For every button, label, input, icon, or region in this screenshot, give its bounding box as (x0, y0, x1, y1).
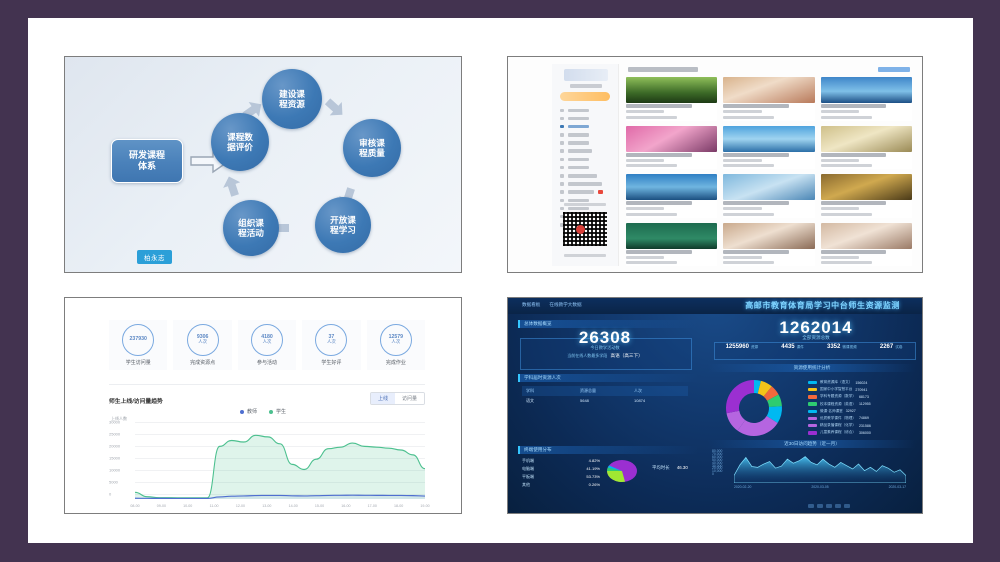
course-teacher (821, 159, 859, 162)
stat-card-row: 237930学生访问量9306人次完成资源点4180人次参与活动37人次学生好评… (109, 320, 425, 370)
pager-dot[interactable] (835, 504, 841, 508)
y-axis-tick: 0 (109, 492, 111, 497)
bullet-icon (560, 182, 564, 186)
course-title (821, 104, 887, 108)
y-axis-tick: 15000 (109, 456, 120, 461)
terminal-label: 平板端 (522, 474, 534, 480)
visit-area-chart (734, 450, 906, 483)
pager-dot[interactable] (808, 504, 814, 508)
stat-ring: 237930 (122, 324, 154, 356)
legend-swatch (808, 424, 817, 428)
stat-card-0: 237930学生访问量 (109, 320, 167, 370)
kpi-caption-resources: 全部资源总数 (716, 335, 916, 341)
metric-value: 3352 (827, 344, 840, 350)
x-axis-tick: 19-00 (420, 504, 429, 508)
bullet-icon (560, 207, 564, 211)
sidebar-item-8[interactable] (558, 172, 614, 180)
kpi-detail-value: 高语（高三下） (611, 353, 643, 358)
pager-dot[interactable] (817, 504, 823, 508)
course-card-grid (626, 77, 912, 266)
stat-ring: 4180人次 (251, 324, 283, 356)
pager-dot[interactable] (826, 504, 832, 508)
sidebar-item-7[interactable] (558, 163, 614, 171)
stat-card-3: 37人次学生好评 (302, 320, 360, 370)
sidebar-item-label (568, 133, 589, 137)
table-header-row: 学科 资源总量 人次 (522, 386, 688, 396)
x-axis-tick: 12-00 (236, 504, 245, 508)
pager-dot[interactable] (844, 504, 850, 508)
stat-ring: 9306人次 (187, 324, 219, 356)
course-card[interactable] (723, 223, 814, 267)
metric-label: 微课视频 (842, 345, 856, 350)
legend-value: 270941 (855, 388, 867, 392)
stat-label: 完成作业 (386, 359, 406, 366)
bullet-icon (560, 190, 564, 194)
course-card[interactable] (821, 77, 912, 121)
toggle-option-online[interactable]: 上线 (371, 393, 395, 404)
course-thumbnail (626, 126, 717, 152)
kpi-detail-activities: 当前在线人数最多学段 高语（高三下） (520, 353, 690, 359)
sidebar-item-9[interactable] (558, 180, 614, 188)
course-teacher (626, 207, 664, 210)
donut-legend-item-7: 儿童素养课程（综合）306000 (808, 430, 871, 435)
cycle-node-organize: 组织课 程活动 (223, 200, 279, 256)
terminal-item-1: 电脑端41.19% (522, 466, 600, 472)
trend-area-chart (135, 422, 425, 499)
course-thumbnail (626, 174, 717, 200)
sidebar-item-1[interactable] (558, 114, 614, 122)
sidebar-footer-link[interactable] (564, 203, 606, 206)
stat-card-2: 4180人次参与活动 (238, 320, 296, 370)
course-views (723, 213, 774, 216)
table-row: 语文 5648 10874 (522, 396, 688, 406)
table-cell-subject: 语文 (522, 398, 580, 404)
course-teacher (626, 159, 664, 162)
x-axis-tick: 13-00 (262, 504, 271, 508)
y-axis-tick: 10000 (109, 468, 120, 473)
donut-legend-item-6: 精品录播课程（化学）231586 (808, 423, 871, 428)
course-title (626, 153, 692, 157)
sidebar-item-label (568, 182, 602, 186)
new-badge-icon (598, 190, 603, 194)
bullet-icon (560, 174, 564, 178)
course-teacher (626, 256, 664, 259)
legend-item-学生[interactable]: 学生 (269, 408, 286, 415)
course-card[interactable] (821, 223, 912, 267)
course-views (723, 116, 774, 119)
cycle-node-build: 建设课 程资源 (262, 69, 322, 129)
stat-label: 完成资源点 (190, 359, 215, 366)
stat-card-1: 9306人次完成资源点 (173, 320, 231, 370)
stat-value: 237930 (130, 337, 147, 342)
sidebar-item-3[interactable] (558, 131, 614, 139)
terminal-value: 53.73% (586, 474, 600, 480)
terminal-item-2: 平板端53.73% (522, 474, 600, 480)
course-title (626, 201, 692, 205)
donut-legend-item-2: 学科专题资源（数学）68173 (808, 394, 871, 399)
sidebar-item-2[interactable] (558, 122, 614, 130)
legend-label: 儿童素养课程（综合） (820, 430, 856, 435)
cycle-node-evaluate: 课程数 据评价 (211, 113, 269, 171)
legend-label: 学科专题资源（数学） (820, 394, 856, 399)
y-axis-tick: 25000 (109, 432, 120, 437)
course-views (821, 116, 872, 119)
legend-value: 74869 (859, 416, 869, 420)
area-x-tick: 2020-03-17 (889, 485, 906, 489)
panel-monitoring-dashboard: 数据看板 在线教学大数据 高邮市教育体育局学习中台师生资源监测 总体数据概览 2… (507, 297, 923, 514)
course-teacher (723, 159, 761, 162)
table-header-subject: 学科 (522, 388, 580, 394)
course-card[interactable] (821, 174, 912, 218)
cycle-arrow-build-to-review-icon (324, 97, 346, 119)
course-teacher (821, 110, 859, 113)
metric-label: 资源 (751, 345, 758, 350)
terminal-label: 其他 (522, 482, 530, 488)
sidebar-item-label (568, 207, 589, 211)
dashboard-pager[interactable] (808, 504, 850, 508)
nav-item-board[interactable]: 数据看板 (522, 302, 540, 308)
stat-card-4: 12579人次完成作业 (367, 320, 425, 370)
metric-value: 2267 (880, 344, 893, 350)
breadcrumb (628, 67, 698, 72)
legend-swatch (808, 395, 817, 399)
legend-swatch (808, 402, 817, 406)
sidebar-item-0[interactable] (558, 106, 614, 114)
bullet-icon (560, 133, 564, 137)
y-axis-tick: 5000 (109, 480, 118, 485)
dashboard-title: 高邮市教育体育局学习中台师生资源监测 (745, 300, 900, 311)
resource-metric-2: 3352微课视频 (827, 344, 857, 350)
course-views (821, 164, 872, 167)
course-title (723, 104, 789, 108)
terminal-distribution-list: 手机端4.82%电脑端41.19%平板端53.73%其他0.26% (522, 458, 600, 490)
sidebar-item-10[interactable] (558, 188, 614, 196)
x-axis-tick: 14-00 (289, 504, 298, 508)
course-thumbnail (626, 77, 717, 103)
legend-value: 112955 (859, 402, 871, 406)
legend-swatch (808, 381, 817, 385)
bullet-icon (560, 158, 564, 162)
course-thumbnail (821, 126, 912, 152)
sidebar-item-label (568, 125, 589, 129)
sidebar-item-5[interactable] (558, 147, 614, 155)
sidebar-all-courses-badge[interactable] (560, 92, 610, 101)
donut-legend-item-5: 优质教学课件（物理）74869 (808, 416, 871, 421)
course-views (723, 261, 774, 264)
section-header-resource-analysis: 资源使用统计分析 (708, 364, 916, 372)
course-list-page (508, 57, 922, 272)
course-card[interactable] (626, 174, 717, 218)
section-divider (109, 384, 425, 385)
donut-legend-item-4: 微课·名师课堂32927 (808, 409, 871, 414)
bullet-icon (560, 166, 564, 170)
more-courses-link[interactable] (878, 67, 910, 72)
x-axis-tick: 11-00 (210, 504, 219, 508)
legend-label: 教育资源库（语文） (820, 380, 852, 385)
nav-item-bigdata[interactable]: 在线教学大数据 (549, 302, 581, 308)
section-header-overview: 总体数据概览 (518, 320, 698, 328)
legend-swatch (808, 410, 817, 414)
x-axis-tick: 17-00 (368, 504, 377, 508)
legend-label: 优质教学课件（物理） (820, 416, 856, 421)
legend-value: 231586 (859, 424, 871, 428)
cycle-node-review: 审核课 程质量 (343, 119, 401, 177)
stat-ring: 37人次 (315, 324, 347, 356)
table-header-count: 人次 (634, 388, 688, 394)
chart-legend: 教师学生 (65, 408, 461, 415)
donut-slice (726, 380, 754, 413)
y-axis-tick: 30000 (109, 420, 120, 425)
course-title (626, 104, 692, 108)
course-card[interactable] (626, 126, 717, 170)
resource-metric-1: 4435课件 (781, 344, 804, 350)
resource-metric-3: 2267试卷 (880, 344, 903, 350)
terminal-label: 电脑端 (522, 466, 534, 472)
section-header-visit-trend: 近30日访问趋势（近一月） (708, 440, 916, 448)
terminal-callout-label: 平均时长 (652, 465, 670, 470)
stat-label: 学生访问量 (126, 359, 151, 366)
legend-value: 156024 (855, 381, 867, 385)
sidebar-item-label (568, 149, 592, 153)
legend-value: 32927 (846, 409, 856, 413)
course-card[interactable] (626, 223, 717, 267)
terminal-callout: 平均时长 46.30 (652, 465, 688, 471)
course-teacher (626, 110, 664, 113)
sidebar-item-label (568, 141, 589, 145)
bullet-icon (560, 199, 564, 203)
legend-swatch (240, 410, 244, 414)
sidebar-item-label (568, 158, 589, 162)
donut-legend-item-3: 校本课程资源（英语）112955 (808, 402, 871, 407)
sidebar-item-label (568, 166, 589, 170)
legend-swatch (269, 410, 273, 414)
course-title (723, 153, 789, 157)
dashboard-nav[interactable]: 数据看板 在线教学大数据 (522, 302, 582, 308)
kpi-detail-label: 当前在线人数最多学段 (567, 353, 607, 358)
course-thumbnail (723, 126, 814, 152)
course-views (626, 261, 677, 264)
qr-caption (564, 254, 606, 257)
course-thumbnail (723, 77, 814, 103)
section-header-terminal: 终端使用分布 (518, 446, 698, 454)
subject-table: 学科 资源总量 人次 语文 5648 10874 (522, 386, 688, 406)
stat-label: 参与活动 (257, 359, 277, 366)
y-axis-tick: 20000 (109, 444, 120, 449)
course-views (626, 164, 677, 167)
legend-label: 学生 (276, 408, 286, 415)
course-teacher (821, 256, 859, 259)
x-axis-tick: 08-00 (130, 504, 139, 508)
stat-unit: 人次 (263, 340, 272, 345)
course-views (723, 164, 774, 167)
course-thumbnail (821, 174, 912, 200)
bullet-icon (560, 125, 564, 129)
course-views (821, 213, 872, 216)
x-axis-tick: 16-00 (341, 504, 350, 508)
legend-label: 教师 (247, 408, 257, 415)
area-fill (135, 435, 425, 499)
course-views (626, 116, 677, 119)
terminal-label: 手机端 (522, 458, 534, 464)
sidebar-item-label (568, 199, 589, 203)
sidebar-item-label (568, 190, 594, 194)
course-title (723, 201, 789, 205)
resource-metric-0: 1255960资源 (726, 344, 759, 350)
x-axis-tick: 10-00 (183, 504, 192, 508)
course-thumbnail (723, 174, 814, 200)
cycle-start-box: 研发课程 体系 (111, 139, 183, 183)
resource-metric-row: 1255960资源4435课件3352微课视频2267试卷 (714, 344, 914, 350)
terminal-item-3: 其他0.26% (522, 482, 600, 488)
course-card[interactable] (723, 126, 814, 170)
course-teacher (821, 207, 859, 210)
course-thumbnail (723, 223, 814, 249)
qr-code-icon (563, 212, 607, 246)
metric-label: 课件 (797, 345, 804, 350)
terminal-value: 0.26% (589, 482, 600, 488)
course-title (723, 250, 789, 254)
course-card[interactable] (821, 126, 912, 170)
table-cell-total: 5648 (580, 398, 634, 404)
author-name-tag: 柏永志 (137, 250, 172, 264)
table-header-total: 资源总量 (580, 388, 634, 394)
course-teacher (723, 110, 761, 113)
sidebar-item-4[interactable] (558, 139, 614, 147)
course-sidebar (552, 64, 619, 266)
course-thumbnail (821, 77, 912, 103)
metric-value: 1255960 (726, 344, 749, 350)
course-teacher (723, 207, 761, 210)
terminal-value: 41.19% (586, 466, 600, 472)
cycle-arrow-organize-to-evaluate-icon (221, 175, 243, 197)
course-title (821, 250, 887, 254)
donut-chart-legend: 教育资源库（语文）156024国家中小学智慧平台270941学科专题资源（数学）… (808, 380, 871, 435)
x-axis-tick: 09-00 (157, 504, 166, 508)
legend-label: 校本课程资源（英语） (820, 402, 856, 407)
terminal-callout-value: 46.30 (677, 465, 688, 470)
slide-canvas: 研发课程 体系 (28, 18, 973, 543)
sidebar-item-label (568, 109, 589, 113)
chart-title: 师生上线/访问量趋势 (109, 396, 163, 405)
legend-label: 精品录播课程（化学） (820, 423, 856, 428)
legend-item-教师[interactable]: 教师 (240, 408, 257, 415)
course-views (626, 213, 677, 216)
course-thumbnail (626, 223, 717, 249)
course-title (626, 250, 692, 254)
stat-unit: 人次 (198, 340, 207, 345)
area-x-tick: 2020-02-20 (734, 485, 751, 489)
sidebar-item-label (568, 174, 597, 178)
panel-course-list (507, 56, 923, 273)
metric-label: 试卷 (895, 345, 902, 350)
sidebar-title (570, 84, 602, 88)
stat-ring: 12579人次 (380, 324, 412, 356)
donut-legend-item-0: 教育资源库（语文）156024 (808, 380, 871, 385)
stat-label: 学生好评 (321, 359, 341, 366)
sidebar-item-6[interactable] (558, 155, 614, 163)
legend-swatch (808, 431, 817, 435)
legend-swatch (808, 388, 817, 392)
legend-value: 306000 (859, 431, 871, 435)
bullet-icon (560, 149, 564, 153)
sidebar-nav-list (558, 106, 614, 229)
area-x-tick: 2020-03-05 (811, 485, 828, 489)
toggle-option-visits[interactable]: 访问量 (395, 393, 424, 404)
bullet-icon (560, 117, 564, 121)
course-card[interactable] (626, 77, 717, 121)
area-y-tick: 0 (712, 473, 722, 476)
course-views (821, 261, 872, 264)
course-card[interactable] (723, 174, 814, 218)
course-title (821, 201, 887, 205)
legend-swatch (808, 417, 817, 421)
legend-label: 微课·名师课堂 (820, 409, 843, 414)
bullet-icon (560, 109, 564, 113)
stat-unit: 人次 (391, 340, 400, 345)
panel-learning-stats: 237930学生访问量9306人次完成资源点4180人次参与活动37人次学生好评… (64, 297, 462, 514)
course-card[interactable] (723, 77, 814, 121)
x-axis-tick: 18-00 (394, 504, 403, 508)
stat-unit: 人次 (327, 340, 336, 345)
section-header-subject-table: 学科届时资源人次 (518, 374, 698, 382)
visit-chart-x-ticks: 2020-02-202020-03-052020-03-17 (734, 485, 906, 489)
course-thumbnail (821, 223, 912, 249)
table-cell-count: 10874 (634, 398, 688, 404)
legend-value: 68173 (859, 395, 869, 399)
legend-label: 国家中小学智慧平台 (820, 387, 852, 392)
trend-chart-plot: 上线人数 300002500020000150001000050000 08-0… (109, 418, 425, 499)
course-title (821, 153, 887, 157)
bullet-icon (560, 141, 564, 145)
sidebar-item-label (568, 117, 589, 121)
x-axis-tick: 15-00 (315, 504, 324, 508)
qr-center-badge-icon (576, 225, 585, 234)
metric-value: 4435 (781, 344, 794, 350)
terminal-item-0: 手机端4.82% (522, 458, 600, 464)
resource-donut-chart (718, 378, 790, 438)
visit-chart-y-ticks: 80,00070,00060,00050,00040,00030,00020,0… (712, 450, 722, 476)
terminal-pie-chart (602, 456, 642, 486)
chart-range-toggle[interactable]: 上线 访问量 (370, 392, 425, 405)
course-teacher (723, 256, 761, 259)
donut-legend-item-1: 国家中小学智慧平台270941 (808, 387, 871, 392)
cycle-node-open: 开放课 程学习 (315, 197, 371, 253)
terminal-value: 4.82% (589, 458, 600, 464)
kpi-caption-activities: 今日教学活动数 (520, 345, 690, 351)
site-logo (564, 69, 608, 81)
panel-cycle-diagram: 研发课程 体系 (64, 56, 462, 273)
